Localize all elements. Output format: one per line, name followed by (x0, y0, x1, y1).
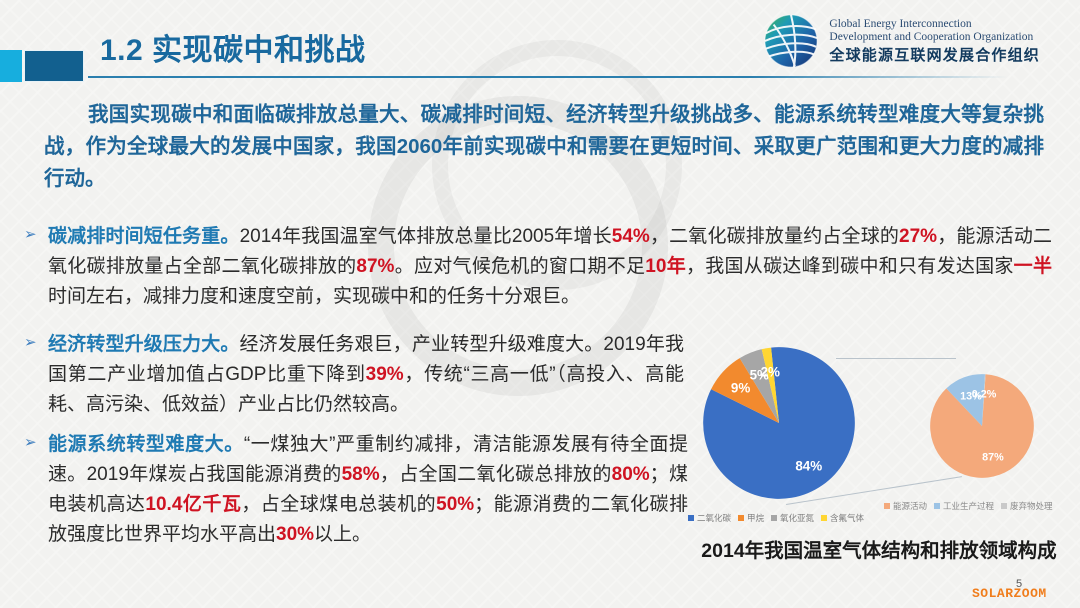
header-accent-cyan (0, 50, 22, 82)
highlight-value: 50% (436, 494, 474, 515)
bullet-arrow-icon: ➢ (24, 430, 48, 550)
highlight-value: 10.4亿千瓦 (145, 494, 241, 515)
highlight-value: 80% (612, 464, 650, 485)
legend-label: 含氟气体 (830, 512, 864, 524)
logo-text-block: Global Energy Interconnection Developmen… (829, 18, 1040, 65)
legend-swatch (821, 515, 827, 521)
legend-swatch (884, 503, 890, 509)
body-text-run: 2014年我国温室气体排放总量比2005年增长 (240, 226, 612, 247)
bullet-arrow-icon: ➢ (24, 222, 48, 312)
legend-swatch (934, 503, 940, 509)
highlight-value: 58% (342, 464, 380, 485)
legend-item: 工业生产过程 (934, 500, 994, 512)
page-title: 1.2 实现碳中和挑战 (100, 25, 366, 69)
bullet-body-2: 经济转型升级压力大。经济发展任务艰巨，产业转型升级难度大。2019年我国第二产业… (48, 330, 684, 420)
source-watermark: SOLARZOOM (972, 586, 1047, 601)
pie-slice-label: 0.2% (972, 388, 997, 400)
body-text-run: ，占全球煤电总装机的 (241, 494, 436, 515)
body-text-run: 时间左右，减排力度和速度空前，实现碳中和的任务十分艰巨。 (48, 286, 580, 307)
bullet-body-1: 碳减排时间短任务重。2014年我国温室气体排放总量比2005年增长54%，二氧化… (48, 222, 1052, 312)
legend-swatch (1001, 503, 1007, 509)
bullet-lead-3: 能源系统转型难度大。 (48, 434, 244, 455)
legend-label: 能源活动 (893, 500, 927, 512)
organization-logo: Global Energy Interconnection Developmen… (762, 12, 1040, 70)
legend-label: 氧化亚氮 (780, 512, 814, 524)
bullet-arrow-icon: ➢ (24, 330, 48, 420)
logo-en-line1: Global Energy Interconnection (829, 18, 1040, 32)
pie-chart-emission-sector: 87%13%0.2% (928, 372, 1036, 480)
legend-emission-sector: 能源活动工业生产过程废弃物处理 (884, 500, 1053, 512)
legend-label: 废弃物处理 (1010, 500, 1053, 512)
highlight-value: 30% (276, 524, 314, 545)
globe-icon (762, 12, 820, 70)
highlight-value: 10年 (645, 256, 686, 277)
body-text-run: 。应对气候危机的窗口期不足 (394, 256, 645, 277)
legend-label: 甲烷 (747, 512, 764, 524)
bullet-lead-1: 碳减排时间短任务重。 (48, 226, 240, 247)
body-text-run: 以上。 (314, 524, 371, 545)
legend-item: 能源活动 (884, 500, 927, 512)
pie-slice-label: 87% (982, 451, 1004, 463)
highlight-value: 一半 (1014, 256, 1052, 277)
legend-swatch (688, 515, 694, 521)
highlight-value: 27% (899, 226, 937, 247)
bullet-lead-2: 经济转型升级压力大。 (48, 334, 240, 355)
bullet-item-2: ➢ 经济转型升级压力大。经济发展任务艰巨，产业转型升级难度大。2019年我国第二… (24, 330, 684, 420)
intro-paragraph: 我国实现碳中和面临碳排放总量大、碳减排时间短、经济转型升级挑战多、能源系统转型难… (44, 99, 1044, 195)
body-text-run: ，二氧化碳排放量约占全球的 (650, 226, 899, 247)
legend-swatch (738, 515, 744, 521)
logo-cn-name: 全球能源互联网发展合作组织 (829, 47, 1040, 65)
chart-figure: 84%9%5%2% 87%13%0.2% 二氧化碳甲烷氧化亚氮含氟气体 能源活动… (686, 336, 1072, 604)
body-text-run: ，占全国二氧化碳总排放的 (380, 464, 612, 485)
legend-item: 氧化亚氮 (771, 512, 814, 524)
chart-title: 2014年我国温室气体结构和排放领域构成 (686, 534, 1072, 563)
legend-item: 废弃物处理 (1001, 500, 1053, 512)
pie-slice-label: 9% (731, 380, 750, 395)
pie-slice-label: 2% (761, 364, 780, 379)
bullet-item-3: ➢ 能源系统转型难度大。“一煤独大”严重制约减排，清洁能源发展有待全面提速。20… (24, 430, 688, 550)
legend-item: 二氧化碳 (688, 512, 731, 524)
logo-en-line2: Development and Cooperation Organization (829, 31, 1040, 45)
bullet-body-3: 能源系统转型难度大。“一煤独大”严重制约减排，清洁能源发展有待全面提速。2019… (48, 430, 688, 550)
legend-item: 含氟气体 (821, 512, 864, 524)
header-accent-blue (24, 50, 84, 82)
slide-header: 1.2 实现碳中和挑战 (0, 0, 1080, 88)
bullet-item-1: ➢ 碳减排时间短任务重。2014年我国温室气体排放总量比2005年增长54%，二… (24, 222, 1052, 312)
title-underline (88, 76, 1008, 78)
body-text-run: ，我国从碳达峰到碳中和只有发达国家 (686, 256, 1014, 277)
legend-greenhouse-gas: 二氧化碳甲烷氧化亚氮含氟气体 (688, 512, 864, 524)
legend-label: 工业生产过程 (943, 500, 994, 512)
legend-item: 甲烷 (738, 512, 764, 524)
legend-swatch (771, 515, 777, 521)
slide-canvas: 1.2 实现碳中和挑战 (0, 0, 1080, 608)
pie-chart-greenhouse-gas: 84%9%5%2% (700, 344, 858, 502)
legend-label: 二氧化碳 (697, 512, 731, 524)
highlight-value: 87% (356, 256, 394, 277)
highlight-value: 54% (612, 226, 650, 247)
highlight-value: 39% (366, 364, 404, 385)
pie-slice-label: 84% (795, 459, 822, 474)
